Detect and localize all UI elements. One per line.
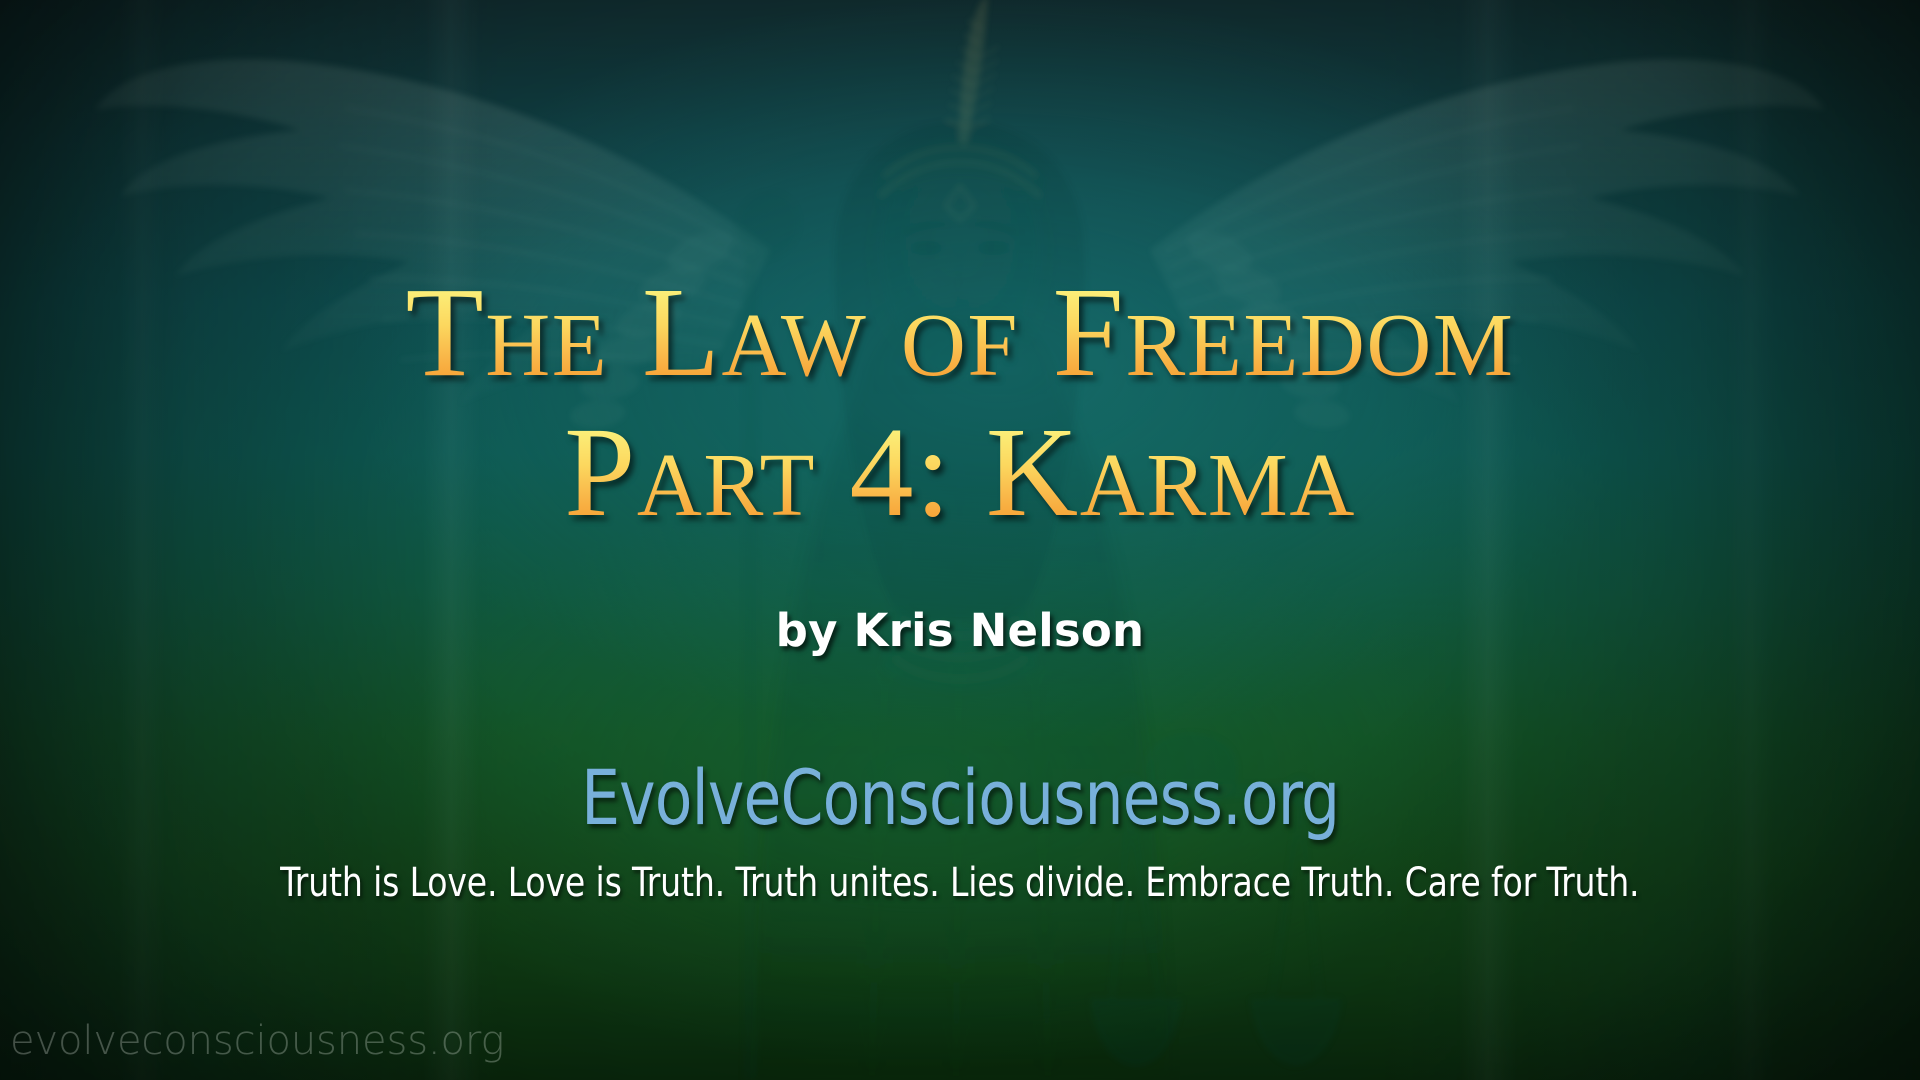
- page-title-line-1: The Law of Freedom: [406, 268, 1515, 396]
- tagline-text: Truth is Love. Love is Truth. Truth unit…: [280, 860, 1639, 906]
- title-slide: The Law of Freedom Part 4: Karma by Kris…: [0, 0, 1920, 1080]
- watermark-label: evolveconsciousness.org: [10, 1018, 504, 1064]
- site-url-link[interactable]: EvolveConsciousness.org: [581, 753, 1339, 842]
- page-title-line-2: Part 4: Karma: [564, 408, 1356, 536]
- author-byline: by Kris Nelson: [776, 604, 1145, 657]
- slide-content: The Law of Freedom Part 4: Karma by Kris…: [0, 0, 1920, 1080]
